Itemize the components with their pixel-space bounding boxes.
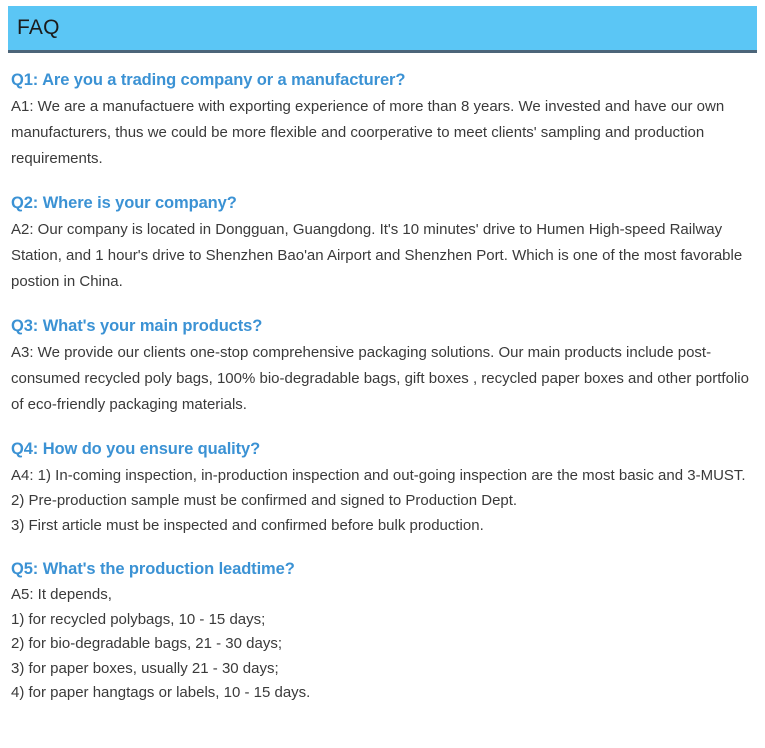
faq-banner: FAQ	[8, 6, 757, 53]
faq-answer-line: 3) for paper boxes, usually 21 - 30 days…	[11, 657, 751, 682]
faq-question-q1: Q1: Are you a trading company or a manuf…	[11, 68, 751, 92]
faq-answer-q1: A1: We are a manufactuere with exporting…	[11, 94, 751, 172]
faq-answer-line: 2) Pre-production sample must be confirm…	[11, 488, 751, 513]
faq-item-q2: Q2: Where is your company? A2: Our compa…	[11, 191, 751, 295]
faq-answer-line: 4) for paper hangtags or labels, 10 - 15…	[11, 681, 751, 706]
faq-question-q4: Q4: How do you ensure quality?	[11, 437, 751, 461]
faq-answer-line: A5: It depends,	[11, 583, 751, 608]
page-title: FAQ	[17, 16, 60, 40]
faq-answer-q4: A4: 1) In-coming inspection, in-producti…	[11, 463, 751, 538]
faq-answer-q3: A3: We provide our clients one-stop comp…	[11, 340, 751, 418]
faq-question-q3: Q3: What's your main products?	[11, 314, 751, 338]
faq-answer-line: 3) First article must be inspected and c…	[11, 513, 751, 538]
faq-item-q3: Q3: What's your main products? A3: We pr…	[11, 314, 751, 418]
faq-answer-line: A4: 1) In-coming inspection, in-producti…	[11, 463, 751, 488]
faq-question-q5: Q5: What's the production leadtime?	[11, 557, 751, 581]
faq-item-q1: Q1: Are you a trading company or a manuf…	[11, 68, 751, 172]
faq-item-q4: Q4: How do you ensure quality? A4: 1) In…	[11, 437, 751, 538]
faq-question-q2: Q2: Where is your company?	[11, 191, 751, 215]
faq-page: FAQ Q1: Are you a trading company or a m…	[0, 0, 765, 748]
faq-answer-line: 1) for recycled polybags, 10 - 15 days;	[11, 608, 751, 633]
faq-list: Q1: Are you a trading company or a manuf…	[11, 68, 751, 706]
faq-item-q5: Q5: What's the production leadtime? A5: …	[11, 557, 751, 706]
faq-answer-q2: A2: Our company is located in Dongguan, …	[11, 217, 751, 295]
faq-answer-q5: A5: It depends, 1) for recycled polybags…	[11, 583, 751, 706]
faq-answer-line: 2) for bio-degradable bags, 21 - 30 days…	[11, 632, 751, 657]
